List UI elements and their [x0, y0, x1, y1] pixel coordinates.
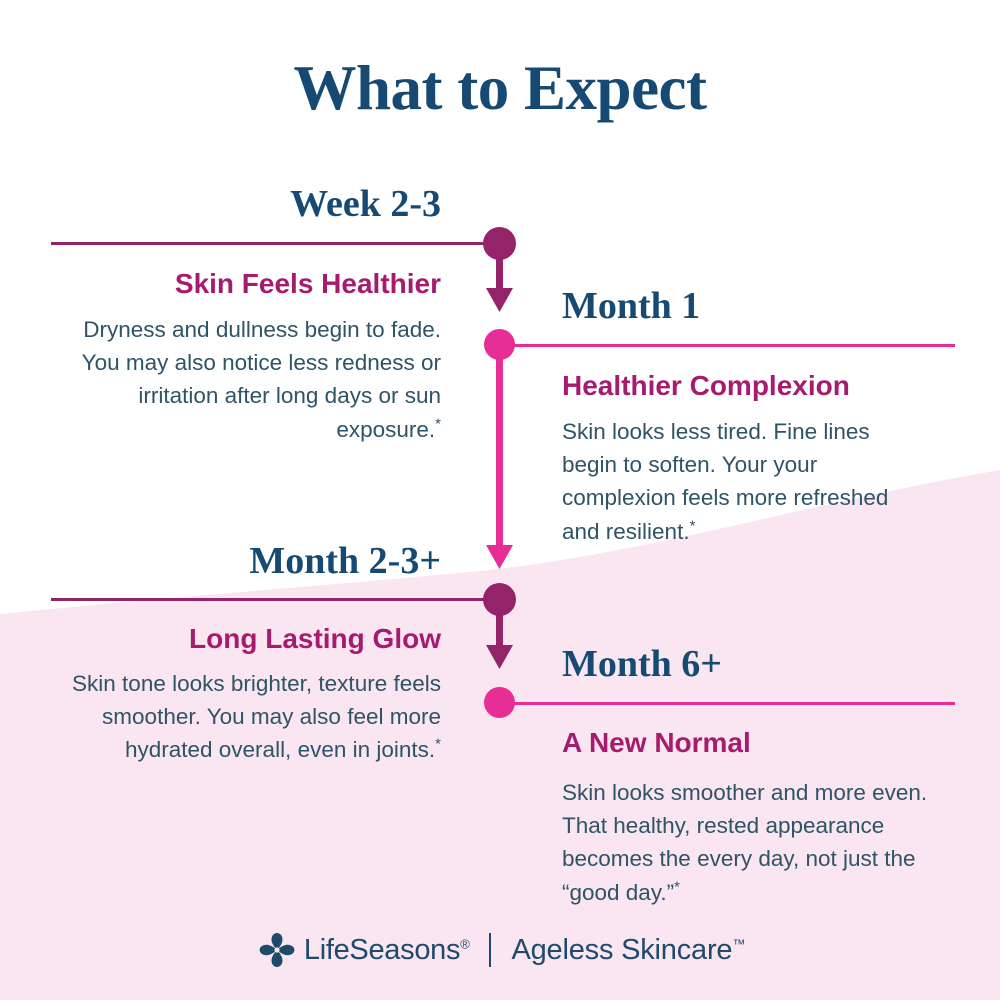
stage-month-1: Month 1 Healthier Complexion Skin looks … [562, 287, 962, 548]
trademark-symbol: ™ [732, 936, 745, 951]
footnote-marker-month-1: * [690, 517, 696, 534]
lifeseasons-logo-icon [255, 930, 299, 970]
brand-name: LifeSeasons® [304, 936, 470, 965]
stage-eyebrow-week-2-3: Week 2-3 [55, 185, 441, 223]
stage-body-text-week-2-3: Dryness and dullness begin to fade. You … [82, 317, 441, 442]
timeline-connector-2 [496, 350, 503, 550]
timeline-arrow-1 [486, 288, 513, 312]
footnote-marker-month-6: * [674, 878, 680, 895]
stage-heading-month-2-3: Long Lasting Glow [55, 624, 441, 655]
stage-heading-week-2-3: Skin Feels Healthier [55, 269, 441, 300]
timeline-dot-month-2-3 [483, 583, 516, 616]
footnote-marker-month-2-3: * [435, 736, 441, 753]
stage-eyebrow-month-1: Month 1 [562, 287, 962, 325]
registered-trademark-symbol: ® [460, 936, 469, 951]
sub-brand-name: Ageless Skincare™ [511, 936, 745, 965]
stage-body-month-1: Skin looks less tired. Fine lines begin … [562, 415, 902, 548]
what-to-expect-infographic: What to Expect Week 2-3 Skin Feels Healt… [0, 0, 1000, 1000]
stage-body-text-month-2-3: Skin tone looks brighter, texture feels … [72, 671, 441, 763]
stage-body-text-month-1: Skin looks less tired. Fine lines begin … [562, 419, 888, 544]
stage-body-month-2-3: Skin tone looks brighter, texture feels … [55, 667, 441, 767]
timeline-dot-week-2-3 [483, 227, 516, 260]
stage-month-6: Month 6+ A New Normal Skin looks smoothe… [562, 645, 962, 909]
stage-body-text-month-6: Skin looks smoother and more even. That … [562, 780, 927, 905]
stage-heading-month-1: Healthier Complexion [562, 371, 962, 402]
timeline-arrow-2 [486, 545, 513, 569]
stage-month-2-3: Month 2-3+ Long Lasting Glow Skin tone l… [55, 542, 441, 767]
brand-name-text: LifeSeasons [304, 934, 460, 966]
stage-eyebrow-month-6: Month 6+ [562, 645, 962, 683]
footer-branding: LifeSeasons® Ageless Skincare™ [0, 930, 1000, 970]
stage-week-2-3: Week 2-3 Skin Feels Healthier Dryness an… [55, 185, 441, 446]
stage-heading-month-6: A New Normal [562, 728, 962, 759]
footer-divider [489, 933, 491, 967]
page-title: What to Expect [0, 52, 1000, 125]
timeline-arrow-3 [486, 645, 513, 669]
sub-brand-text: Ageless Skincare [511, 934, 732, 966]
timeline-dot-month-1 [484, 329, 515, 360]
footnote-marker-week-2-3: * [435, 415, 441, 432]
stage-eyebrow-month-2-3: Month 2-3+ [55, 542, 441, 580]
timeline-dot-month-6 [484, 687, 515, 718]
stage-body-week-2-3: Dryness and dullness begin to fade. You … [55, 313, 441, 446]
stage-body-month-6: Skin looks smoother and more even. That … [562, 776, 940, 909]
